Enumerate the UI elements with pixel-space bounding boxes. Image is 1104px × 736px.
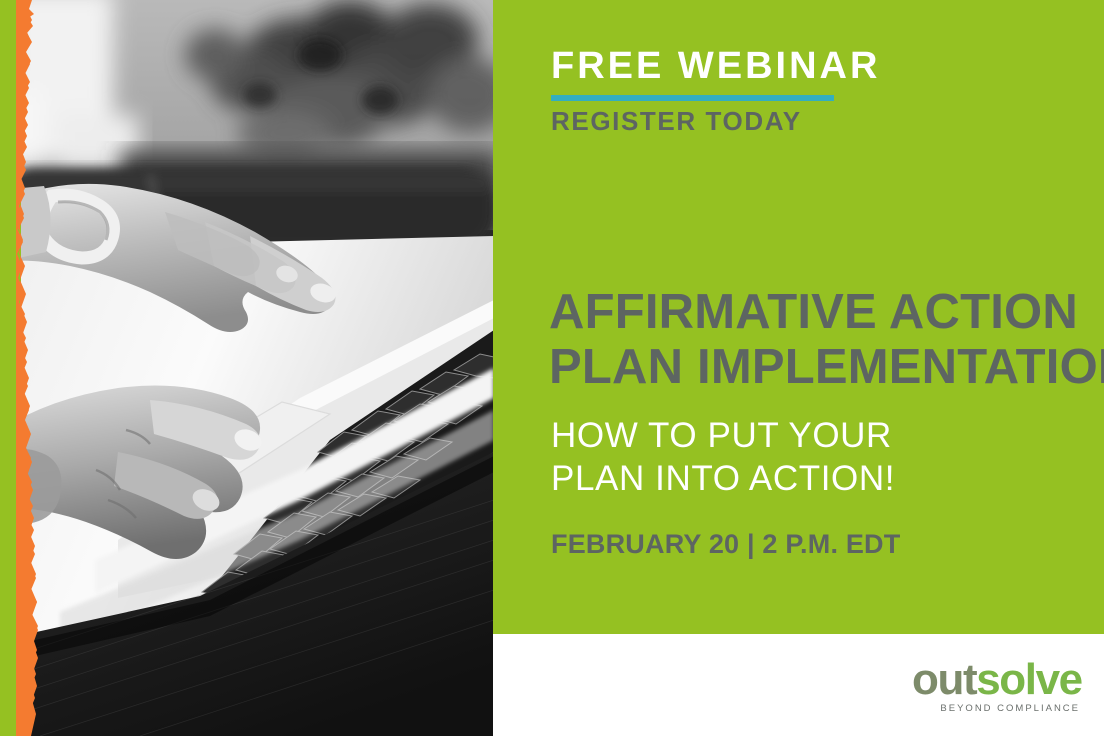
logo-wordmark: outsolve [912, 658, 1082, 702]
subtitle-line-2: PLAN INTO ACTION! [551, 458, 895, 501]
logo-text-out: out [912, 655, 976, 704]
page-title: AFFIRMATIVE ACTION PLAN IMPLEMENTATION [549, 285, 1104, 395]
orange-torn-strip-icon [16, 0, 40, 736]
title-line-2: PLAN IMPLEMENTATION [549, 340, 1104, 395]
event-date-time: FEBRUARY 20 | 2 P.M. EDT [551, 531, 900, 558]
teal-divider-rule [551, 95, 834, 101]
webinar-promo-poster: FREE WEBINAR REGISTER TODAY AFFIRMATIVE … [0, 0, 1104, 736]
eyebrow-free-webinar: FREE WEBINAR [551, 47, 880, 85]
outsolve-logo: outsolve BEYOND COMPLIANCE [912, 658, 1082, 716]
subtitle-line-1: HOW TO PUT YOUR [551, 415, 895, 458]
logo-text-solve: solve [976, 655, 1082, 704]
sub-eyebrow-register-today: REGISTER TODAY [551, 108, 802, 134]
title-line-1: AFFIRMATIVE ACTION [549, 285, 1104, 340]
page-subtitle: HOW TO PUT YOUR PLAN INTO ACTION! [551, 415, 895, 500]
logo-tagline: BEYOND COMPLIANCE [912, 703, 1082, 714]
photo-illustration [0, 0, 494, 736]
hero-photo [0, 0, 494, 736]
